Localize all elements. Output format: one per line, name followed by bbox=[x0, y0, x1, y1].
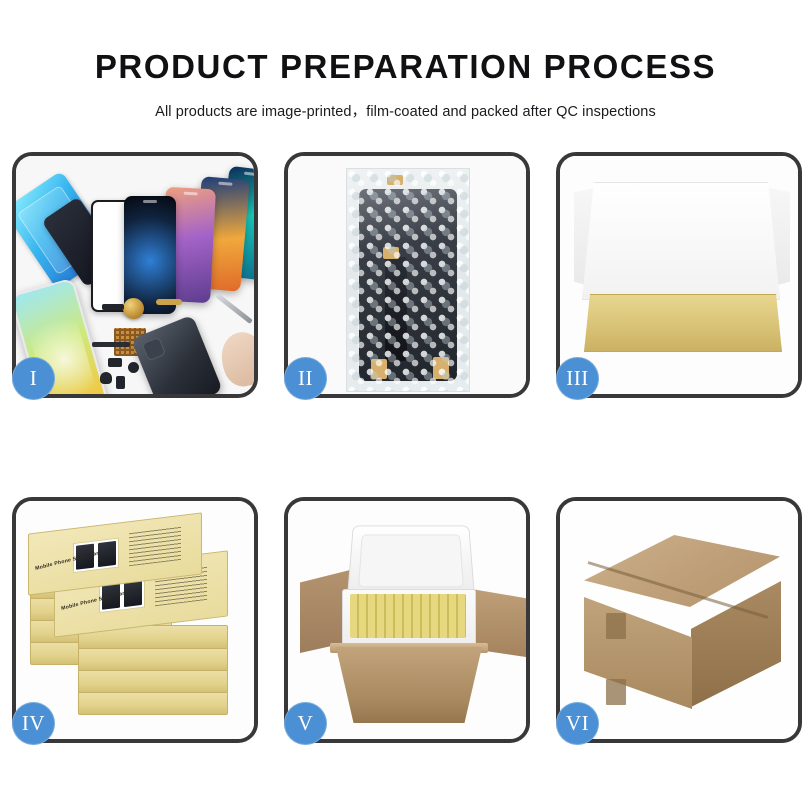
copper-coil-icon bbox=[123, 298, 144, 319]
kraft-box-tray bbox=[584, 294, 782, 352]
bubble-wrap-sleeve bbox=[346, 168, 470, 392]
retail-box bbox=[78, 669, 228, 693]
small-part-icon bbox=[116, 376, 125, 389]
process-step-panel-1[interactable]: I bbox=[12, 152, 258, 398]
step-6-image bbox=[560, 501, 798, 739]
step-badge-1: I bbox=[12, 357, 55, 400]
phone-notch-icon bbox=[244, 172, 254, 177]
phone-display-blue-icon bbox=[124, 196, 176, 314]
sealed-carton-scene bbox=[560, 501, 798, 739]
small-part-icon bbox=[100, 372, 112, 384]
header: PRODUCT PREPARATION PROCESS All products… bbox=[0, 0, 811, 121]
process-step-panel-3[interactable]: III bbox=[556, 152, 802, 398]
phone-notch-icon bbox=[218, 182, 232, 186]
flex-cable-icon bbox=[156, 299, 182, 305]
open-kraft-box-scene bbox=[560, 156, 798, 394]
foam-box-lid bbox=[347, 525, 475, 598]
step-badge-6: VI bbox=[556, 702, 599, 745]
product-preparation-process-infographic: PRODUCT PREPARATION PROCESS All products… bbox=[0, 0, 811, 811]
carton-tape-tab bbox=[606, 679, 626, 705]
carton-tape-tab bbox=[606, 613, 626, 639]
phone-parts-collage-scene bbox=[16, 156, 254, 394]
small-part-icon bbox=[102, 304, 124, 310]
retail-boxes-inside-foam bbox=[350, 594, 466, 638]
process-step-panel-2[interactable]: II bbox=[284, 152, 530, 398]
phone-notch-icon bbox=[143, 200, 157, 203]
step-badge-5: V bbox=[284, 702, 327, 745]
process-step-panel-4[interactable]: Mobile Phone Spare Parts Mobile Phone Sp… bbox=[12, 497, 258, 743]
carton-with-foam-box-scene bbox=[288, 501, 526, 739]
step-badge-2: II bbox=[284, 357, 327, 400]
bubble-texture bbox=[347, 169, 469, 391]
carton-body bbox=[336, 647, 482, 723]
box-spec-text-lines bbox=[129, 526, 181, 566]
box-lid-panel bbox=[582, 182, 780, 300]
process-step-grid: I II bbox=[12, 152, 802, 743]
step-4-image: Mobile Phone Spare Parts Mobile Phone Sp… bbox=[16, 501, 254, 739]
flex-cable-icon bbox=[92, 342, 130, 347]
phone-notch-icon bbox=[184, 192, 198, 196]
step-badge-3: III bbox=[556, 357, 599, 400]
retail-box bbox=[78, 691, 228, 715]
step-1-image bbox=[16, 156, 254, 394]
page-subtitle: All products are image-printed，film-coat… bbox=[0, 86, 811, 121]
retail-box bbox=[78, 647, 228, 671]
page-title: PRODUCT PREPARATION PROCESS bbox=[0, 0, 811, 86]
step-badge-4: IV bbox=[12, 702, 55, 745]
bubble-wrapped-lcd-scene bbox=[288, 156, 526, 394]
step-3-image bbox=[560, 156, 798, 394]
small-part-icon bbox=[128, 362, 139, 373]
stacked-retail-boxes-scene: Mobile Phone Spare Parts Mobile Phone Sp… bbox=[16, 501, 254, 739]
process-step-panel-5[interactable]: V bbox=[284, 497, 530, 743]
step-2-image bbox=[288, 156, 526, 394]
small-part-icon bbox=[108, 358, 122, 367]
step-5-image bbox=[288, 501, 526, 739]
process-step-panel-6[interactable]: VI bbox=[556, 497, 802, 743]
